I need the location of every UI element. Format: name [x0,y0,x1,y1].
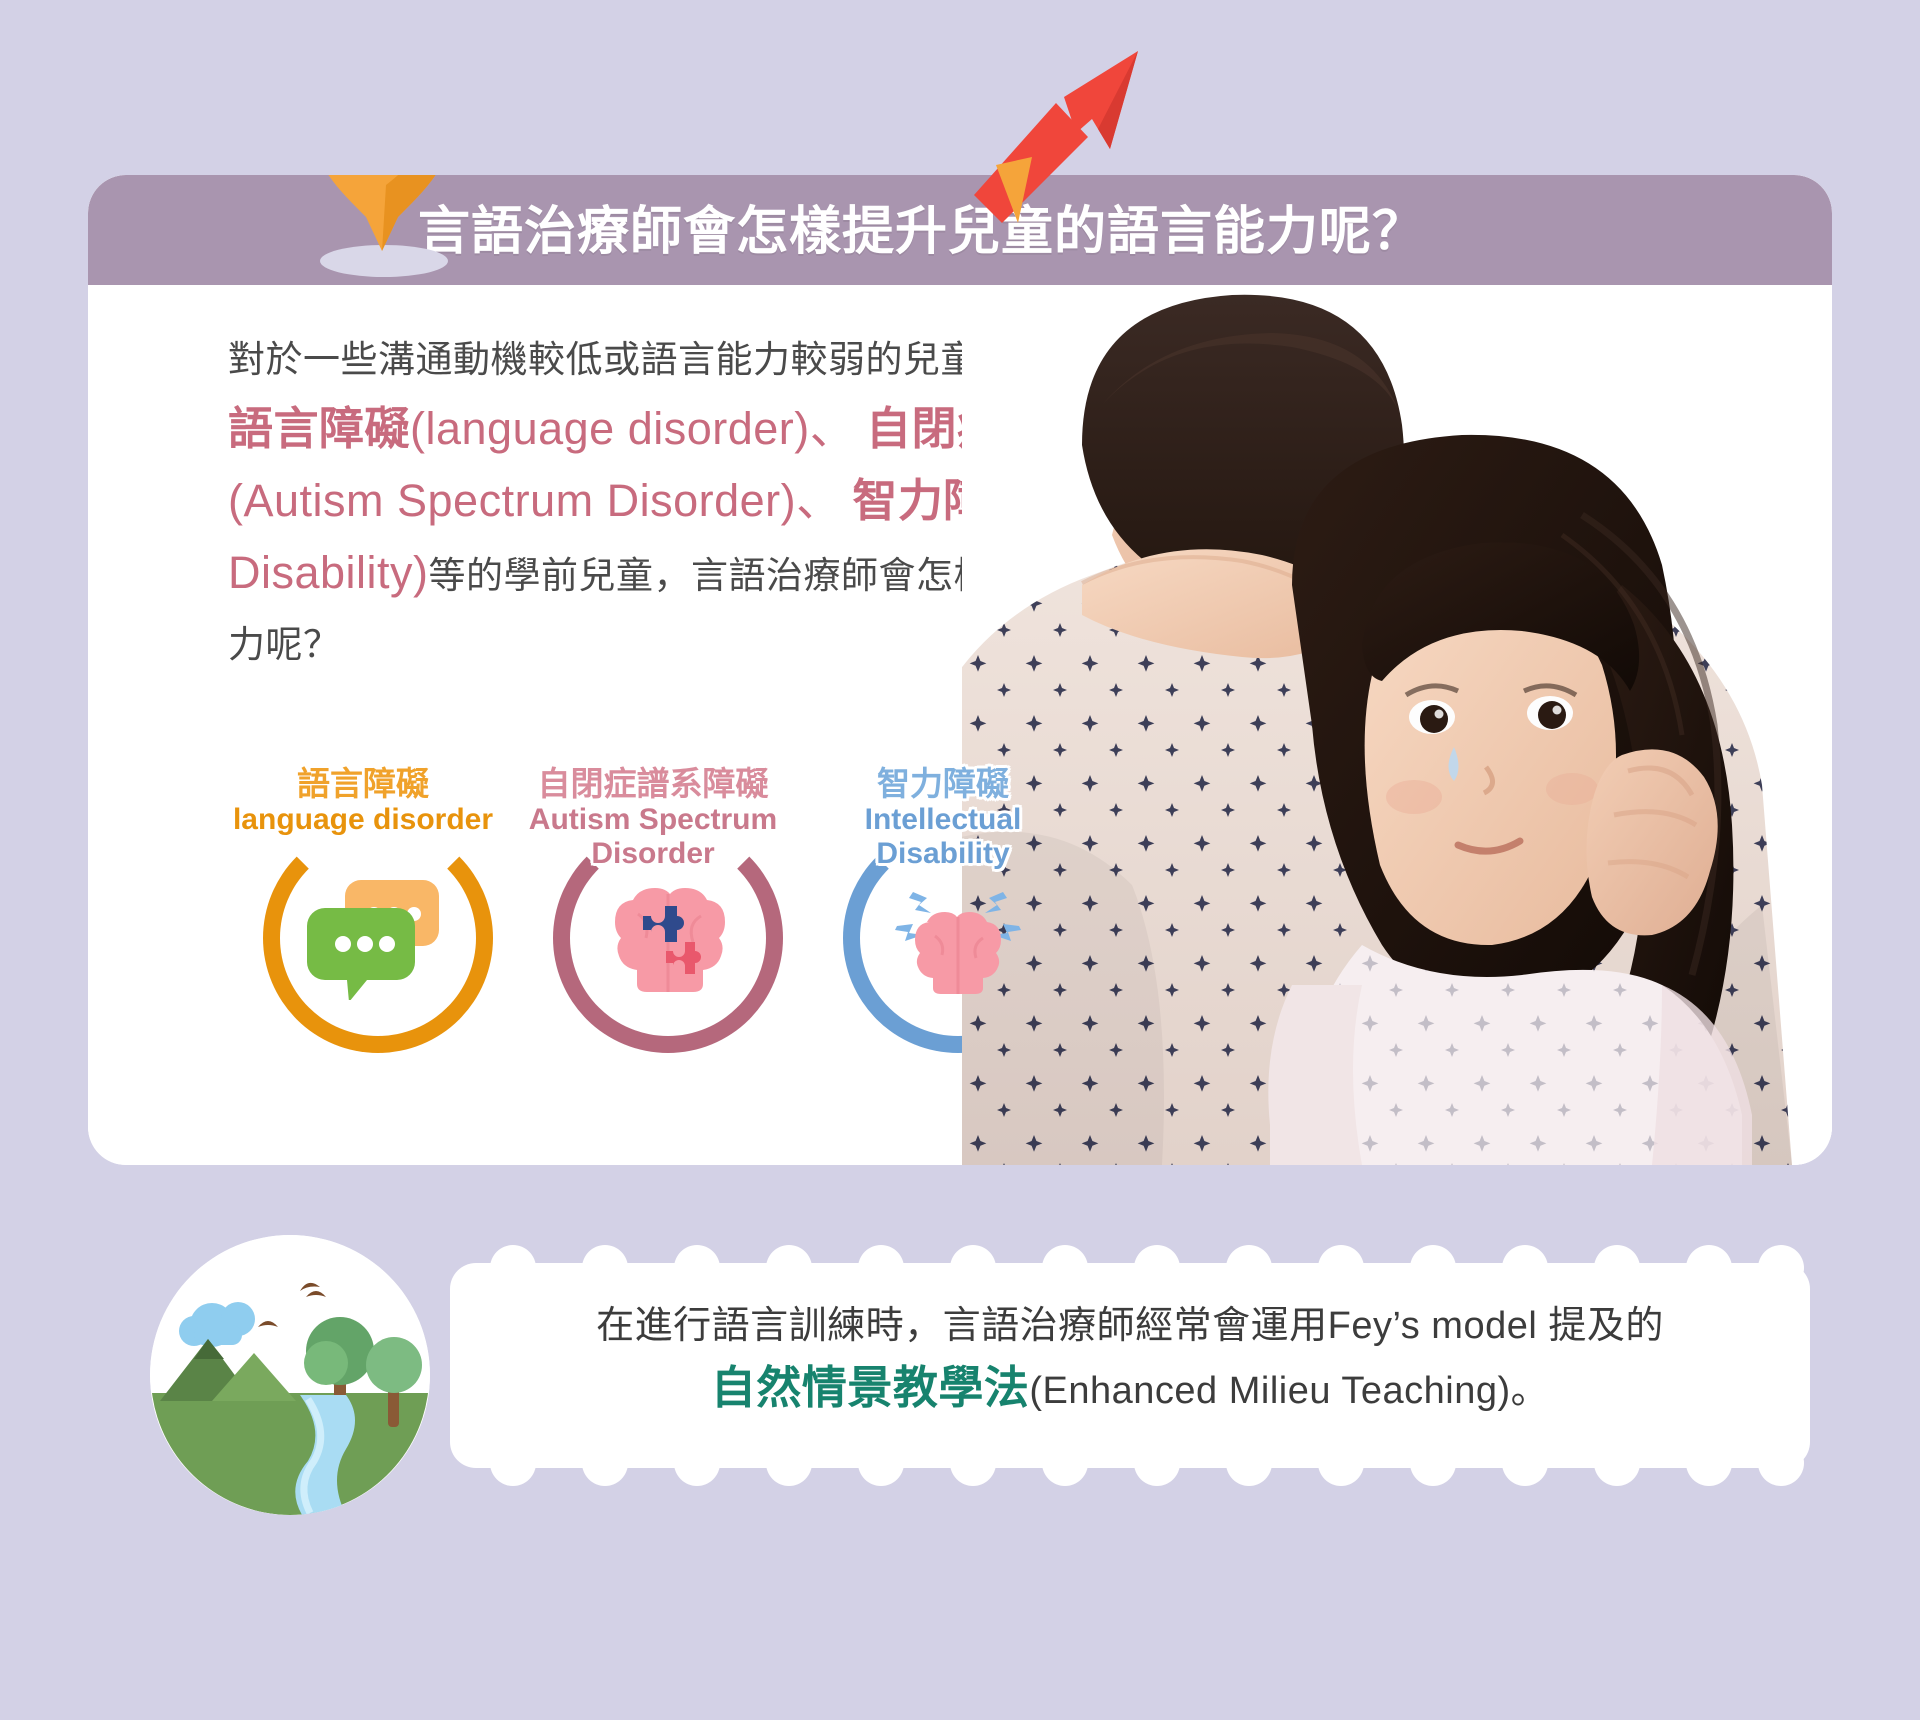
footer-term-en: (Enhanced Milieu Teaching) [1029,1370,1510,1412]
cloud-bump [1410,1245,1456,1291]
question-mark-pin-icon: ? [288,175,478,275]
term-language-disorder-cn: 語言障礙 [228,403,410,454]
footer-section: 在進行語言訓練時，言語治療師經常會運用Fey’s model 提及的 自然情景教… [150,1255,1810,1495]
svg-text:?: ? [345,175,418,197]
disorder-item-language-disorder: 語言障礙 language disorder [218,765,508,1055]
cloud-bump [858,1440,904,1486]
label-cn-autism-spectrum-disorder: 自閉症譜系障礙 [508,765,798,803]
cloud-bump [1134,1440,1180,1486]
cloud-bump [1686,1440,1732,1486]
cloud-bump [766,1245,812,1291]
label-cn-language-disorder: 語言障礙 [218,765,508,803]
cloud-bump [1134,1245,1180,1291]
term-language-disorder-en: (language disorder) [410,403,810,454]
term-asd-en: (Autism Spectrum Disorder) [228,475,796,526]
cloud-bump [1686,1245,1732,1291]
footer-line-1: 在進行語言訓練時，言語治療師經常會運用Fey’s model 提及的 [596,1305,1664,1347]
footer-text: 在進行語言訓練時，言語治療師經常會運用Fey’s model 提及的 自然情景教… [480,1295,1780,1422]
cloud-bump [1594,1440,1640,1486]
separator-2: 、 [796,475,842,526]
cloud-bump [1226,1440,1272,1486]
cloud-bump [1410,1440,1456,1486]
label-en-language-disorder: language disorder [218,803,508,837]
cloud-bump [582,1245,628,1291]
cloud-bump [950,1245,996,1291]
cloud-bump [1318,1440,1364,1486]
cloud-bump [490,1440,536,1486]
disorder-item-autism-spectrum-disorder: 自閉症譜系障礙 Autism Spectrum Disorder [508,765,798,1055]
cloud-bump [1594,1245,1640,1291]
cloud-bump [1758,1440,1804,1486]
label-language-disorder: 語言障礙 language disorder [218,765,508,837]
speech-bubbles-icon [303,870,453,1000]
cloud-bump [766,1440,812,1486]
rising-red-arrow-icon [960,45,1150,225]
brain-lightning-icon [883,870,1033,1000]
main-card: 言語治療師會怎樣提升兒童的語言能力呢？ 對於一些溝通動機較低或語言能力較弱的兒童… [88,175,1832,1165]
cloud-bump [1502,1245,1548,1291]
cloud-bump [950,1440,996,1486]
label-en-autism-spectrum-disorder: Autism Spectrum Disorder [508,803,798,871]
label-cn-intellectual-disability: 智力障礙 [798,765,1088,803]
brain-puzzle-icon [593,870,743,1000]
cloud-bump [582,1440,628,1486]
cloud-bump [674,1440,720,1486]
nature-earth-icon [150,1235,430,1515]
cloud-bump [858,1245,904,1291]
card-body: 對於一些溝通動機較低或語言能力較弱的兒童，例如患有 語言障礙(language … [88,285,1832,1165]
father-holding-crying-child-photo [962,285,1832,1165]
cloud-bump [1502,1440,1548,1486]
cloud-bump [1318,1245,1364,1291]
cloud-bump [1042,1440,1088,1486]
cloud-bump [1226,1245,1272,1291]
footer-term-cn: 自然情景教學法 [711,1362,1030,1413]
label-autism-spectrum-disorder: 自閉症譜系障礙 Autism Spectrum Disorder [508,765,798,871]
separator-1: 、 [810,403,856,454]
footer-period: 。 [1511,1370,1550,1412]
infographic-page: 言語治療師會怎樣提升兒童的語言能力呢？ 對於一些溝通動機較低或語言能力較弱的兒童… [0,0,1920,1720]
cloud-bump [490,1245,536,1291]
cloud-bump [674,1245,720,1291]
pin-body: ? [302,175,462,255]
cloud-bump [1758,1245,1804,1291]
label-intellectual-disability: 智力障礙 Intellectual Disability [798,765,1088,871]
label-en-intellectual-disability: Intellectual Disability [798,803,1088,871]
cloud-bump [1042,1245,1088,1291]
